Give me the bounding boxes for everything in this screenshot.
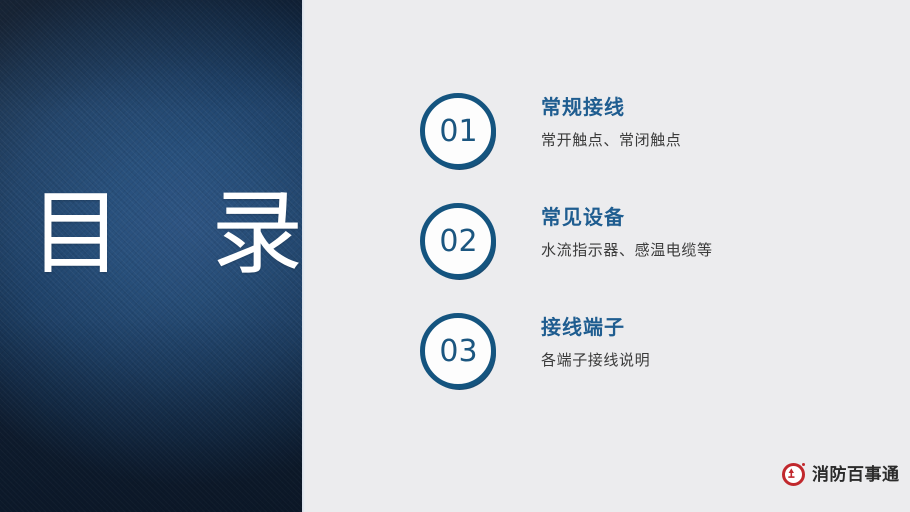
badge-ring-icon: 03: [420, 313, 496, 389]
page-title: 目 录: [0, 183, 302, 285]
number-badge-3: 03: [420, 313, 496, 389]
toc-item-2-text: 常见设备 水流指示器、感温电缆等: [496, 203, 713, 261]
logo-arrow-glyph-icon: [782, 463, 805, 486]
toc-item-3[interactable]: 03 接线端子 各端子接线说明: [420, 313, 650, 389]
toc-content-area: 01 常规接线 常开触点、常闭触点 02 常见设备 水流指示器、感温电缆等: [306, 0, 910, 512]
number-badge-2: 02: [420, 203, 496, 279]
toc-item-1-text: 常规接线 常开触点、常闭触点: [496, 93, 681, 151]
badge-ring-icon: 01: [420, 93, 496, 169]
toc-item-2-title: 常见设备: [541, 205, 713, 231]
toc-item-1-title: 常规接线: [541, 95, 681, 121]
toc-item-2-subtitle: 水流指示器、感温电缆等: [541, 241, 713, 261]
left-blue-panel: 目 录: [0, 0, 302, 512]
toc-item-1[interactable]: 01 常规接线 常开触点、常闭触点: [420, 93, 681, 169]
number-badge-1: 01: [420, 93, 496, 169]
toc-item-3-text: 接线端子 各端子接线说明: [496, 313, 650, 371]
toc-item-1-subtitle: 常开触点、常闭触点: [541, 131, 681, 151]
toc-item-3-title: 接线端子: [541, 315, 650, 341]
badge-ring-icon: 02: [420, 203, 496, 279]
badge-number-label: 01: [438, 115, 477, 147]
logo-text-label: 消防百事通: [812, 465, 900, 485]
toc-item-2[interactable]: 02 常见设备 水流指示器、感温电缆等: [420, 203, 713, 279]
fire-shield-circle-icon: [782, 463, 805, 486]
toc-item-3-subtitle: 各端子接线说明: [541, 351, 650, 371]
badge-number-label: 02: [438, 225, 477, 257]
presentation-slide: 目 录 01 常规接线 常开触点、常闭触点 02: [0, 0, 910, 512]
brand-logo: 消防百事通: [782, 463, 900, 486]
logo-accent-dot-icon: [802, 463, 805, 466]
badge-number-label: 03: [438, 335, 477, 367]
